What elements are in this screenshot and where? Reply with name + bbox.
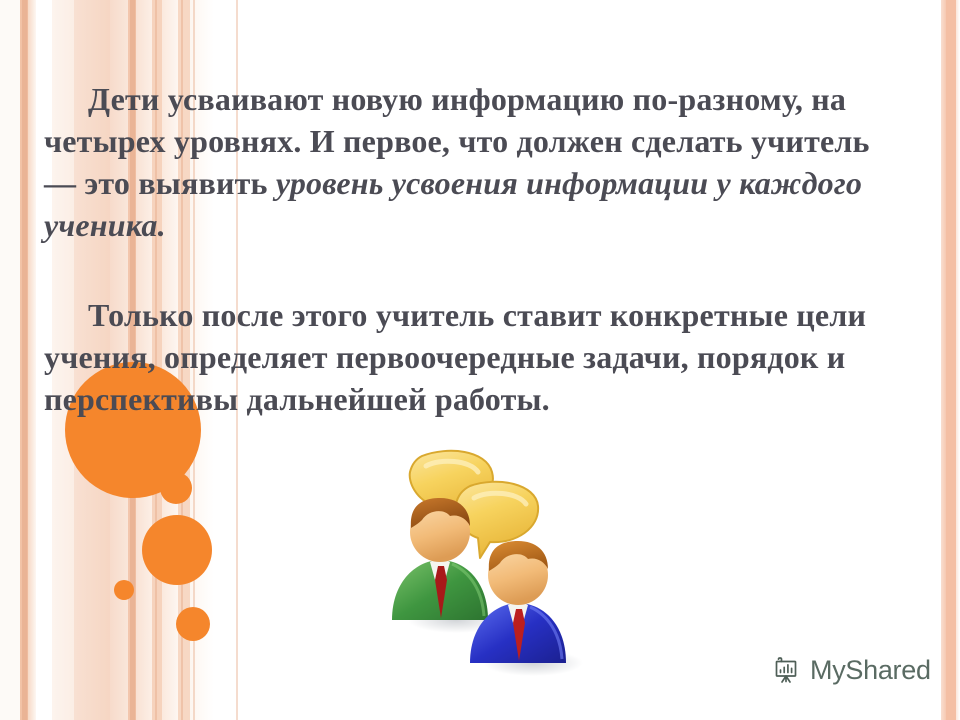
two-people-talking-illustration xyxy=(378,448,608,683)
stripe-line-1 xyxy=(22,0,27,720)
slide-canvas: Дети усваивают новую информацию по-разно… xyxy=(0,0,960,720)
paragraph-two: Только после этого учитель ставит конкре… xyxy=(44,294,906,420)
right-stripe-band xyxy=(938,0,960,720)
myshared-logo-text: MyShared xyxy=(810,657,931,684)
slide-text-body: Дети усваивают новую информацию по-разно… xyxy=(44,78,906,420)
flipchart-chart-icon xyxy=(772,655,802,685)
myshared-logo: MyShared xyxy=(772,655,931,685)
decor-circle-small-b xyxy=(176,607,210,641)
decor-circle-small-a xyxy=(160,472,192,504)
paragraph-one: Дети усваивают новую информацию по-разно… xyxy=(44,78,906,246)
decor-circle-medium xyxy=(142,515,212,585)
decor-circle-tiny xyxy=(114,580,134,600)
